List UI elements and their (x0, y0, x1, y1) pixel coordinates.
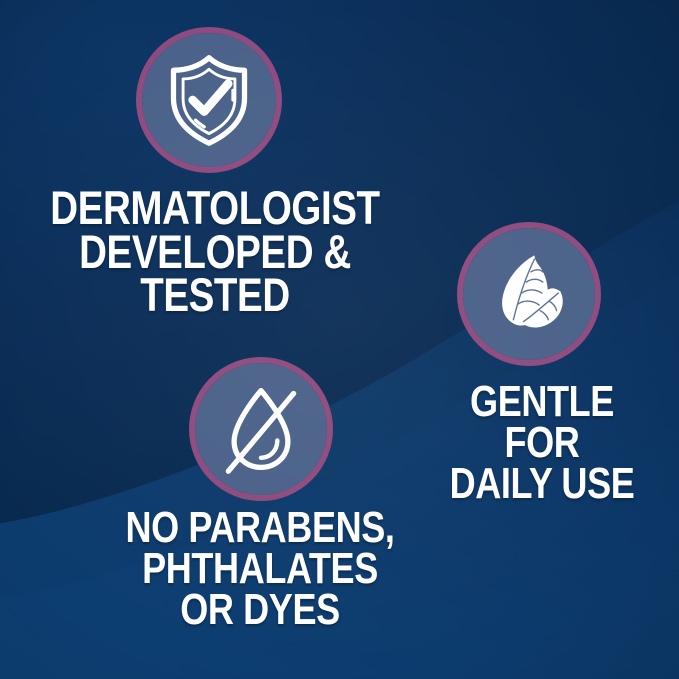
check-icon (193, 84, 229, 112)
badge-gentle (463, 228, 595, 360)
badge-dermatologist (142, 33, 276, 167)
feathers-icon (483, 248, 575, 340)
leaf-inner-arc (261, 441, 277, 458)
claim-gentle-for-daily-use: GENTLE FOR DAILY USE (430, 382, 655, 505)
claim-dermatologist: DERMATOLOGIST DEVELOPED & TESTED (39, 186, 392, 317)
shield-check-icon (161, 52, 257, 148)
leaf-slash-icon (213, 381, 309, 477)
claim-no-parabens: NO PARABENS, PHTHALATES OR DYES (111, 508, 409, 631)
benefit-badges-panel: DERMATOLOGIST DEVELOPED & TESTED GENTLE … (0, 0, 679, 679)
badge-no-parabens (195, 363, 327, 495)
